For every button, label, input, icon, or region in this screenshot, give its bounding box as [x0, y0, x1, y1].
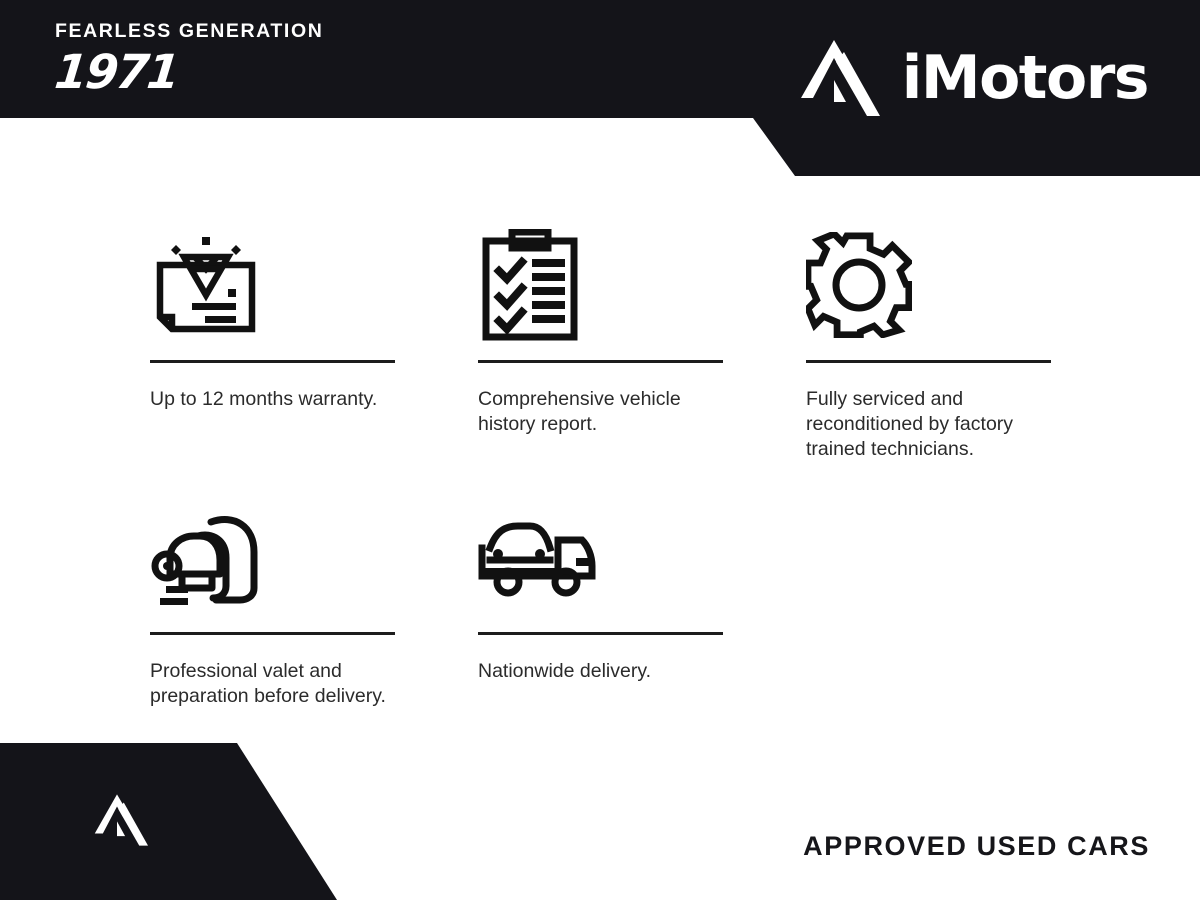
features-row-1: Up to 12 months warranty.	[150, 210, 1090, 462]
feature-valet: Professional valet and preparation befor…	[150, 492, 395, 709]
gear-cog-icon	[806, 210, 1051, 360]
feature-warranty: Up to 12 months warranty.	[150, 210, 395, 462]
approved-used-cars-tagline: APPROVED USED CARS	[803, 833, 1150, 860]
feature-history-report: Comprehensive vehicle history report.	[478, 210, 723, 462]
clipboard-checklist-icon	[478, 210, 723, 360]
divider-rule	[150, 360, 395, 363]
divider-rule	[478, 360, 723, 363]
brand-lockup: iMotors	[788, 38, 1148, 118]
certificate-diamond-icon	[150, 210, 395, 360]
footer-wedge	[0, 743, 340, 900]
fearless-generation-block: FEARLESS GENERATION 1971	[55, 22, 323, 96]
feature-text: Fully serviced and reconditioned by fact…	[806, 387, 1051, 462]
feature-servicing: Fully serviced and reconditioned by fact…	[806, 210, 1051, 462]
feature-delivery: Nationwide delivery.	[478, 492, 723, 709]
feature-text: Professional valet and preparation befor…	[150, 659, 395, 709]
features-row-2: Professional valet and preparation befor…	[150, 492, 1090, 709]
fearless-generation-eyebrow: FEARLESS GENERATION	[55, 22, 323, 42]
brand-name: iMotors	[902, 48, 1148, 108]
promo-page: FEARLESS GENERATION 1971 iMotors	[0, 0, 1200, 900]
year-1971-mark: 1971	[53, 49, 326, 96]
feature-text: Nationwide delivery.	[478, 659, 723, 684]
features-grid: Up to 12 months warranty.	[150, 210, 1090, 709]
car-transporter-truck-icon	[478, 492, 723, 632]
divider-rule	[806, 360, 1051, 363]
divider-rule	[478, 632, 723, 635]
feature-text: Comprehensive vehicle history report.	[478, 387, 723, 437]
divider-rule	[150, 632, 395, 635]
feature-text: Up to 12 months warranty.	[150, 387, 395, 412]
imotors-chevron-icon	[788, 38, 880, 118]
vacuum-cleaner-icon	[150, 492, 395, 632]
